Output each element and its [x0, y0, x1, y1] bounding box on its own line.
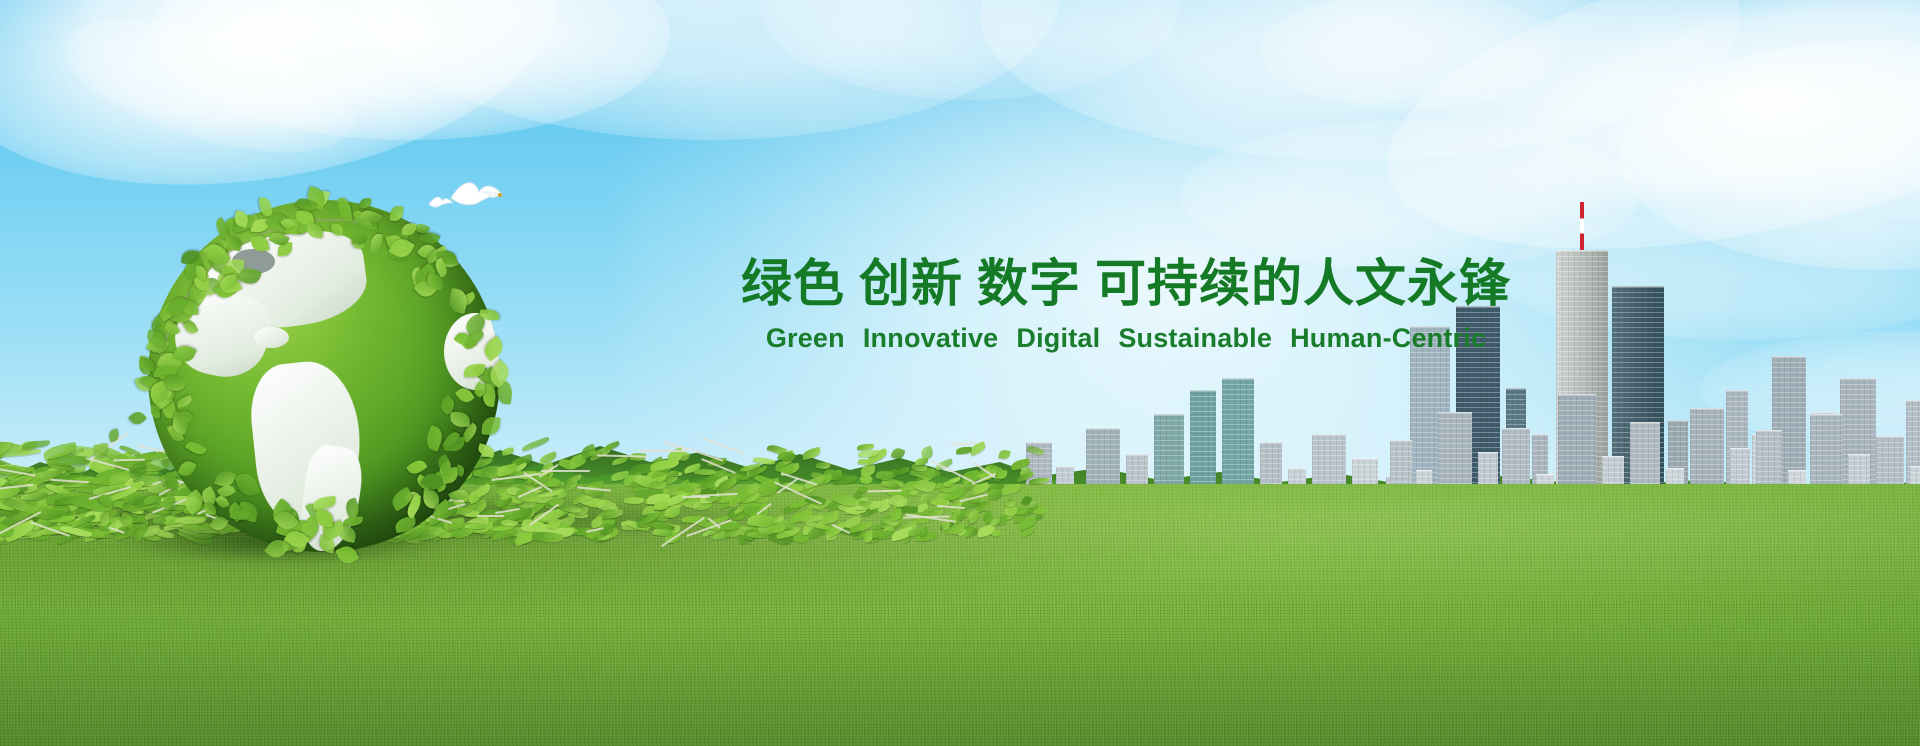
leaf-icon — [624, 496, 645, 505]
leaf-icon — [611, 457, 628, 467]
headline-en-word-5: Human-Centric — [1290, 323, 1486, 353]
leaf-icon — [996, 469, 1007, 479]
headline-chinese: 绿色创新数字可持续的人文永锋 — [686, 258, 1566, 312]
headline-en-word-2: Innovative — [863, 323, 999, 353]
leaf-icon — [521, 437, 551, 452]
headline-cn-word-2: 创新 — [859, 255, 963, 314]
headline-en-word-4: Sustainable — [1118, 323, 1272, 353]
leaf-icon — [501, 447, 514, 455]
leaf-icon — [860, 475, 873, 485]
headline-en-word-1: Green — [766, 323, 845, 353]
bird-icon — [448, 176, 510, 221]
leaf-icon — [896, 466, 911, 475]
twig-icon — [949, 442, 976, 445]
headline-cn-word-1: 绿色 — [741, 255, 845, 314]
twig-icon — [597, 454, 647, 457]
headline-cn-word-4: 可持续的人文永锋 — [1095, 255, 1511, 314]
leaf-icon — [802, 447, 823, 461]
leaf-icon — [166, 472, 177, 488]
leaf-icon — [915, 458, 929, 466]
twig-icon — [702, 437, 745, 454]
leaf-icon — [890, 446, 905, 461]
leaf-icon — [861, 465, 875, 476]
bird-icon — [428, 194, 454, 217]
eco-banner: 绿色创新数字可持续的人文永锋 GreenInnovativeDigitalSus… — [0, 0, 1920, 746]
headline-block: 绿色创新数字可持续的人文永锋 GreenInnovativeDigitalSus… — [686, 258, 1566, 352]
earth-globe-icon — [148, 200, 500, 552]
leaf-icon — [988, 489, 1003, 501]
leaf-icon — [999, 449, 1011, 460]
headline-en-word-3: Digital — [1016, 323, 1100, 353]
headline-cn-word-3: 数字 — [977, 255, 1081, 314]
leaf-icon — [822, 510, 840, 524]
leaf-icon — [979, 500, 992, 511]
headline-english: GreenInnovativeDigitalSustainableHuman-C… — [686, 324, 1566, 352]
